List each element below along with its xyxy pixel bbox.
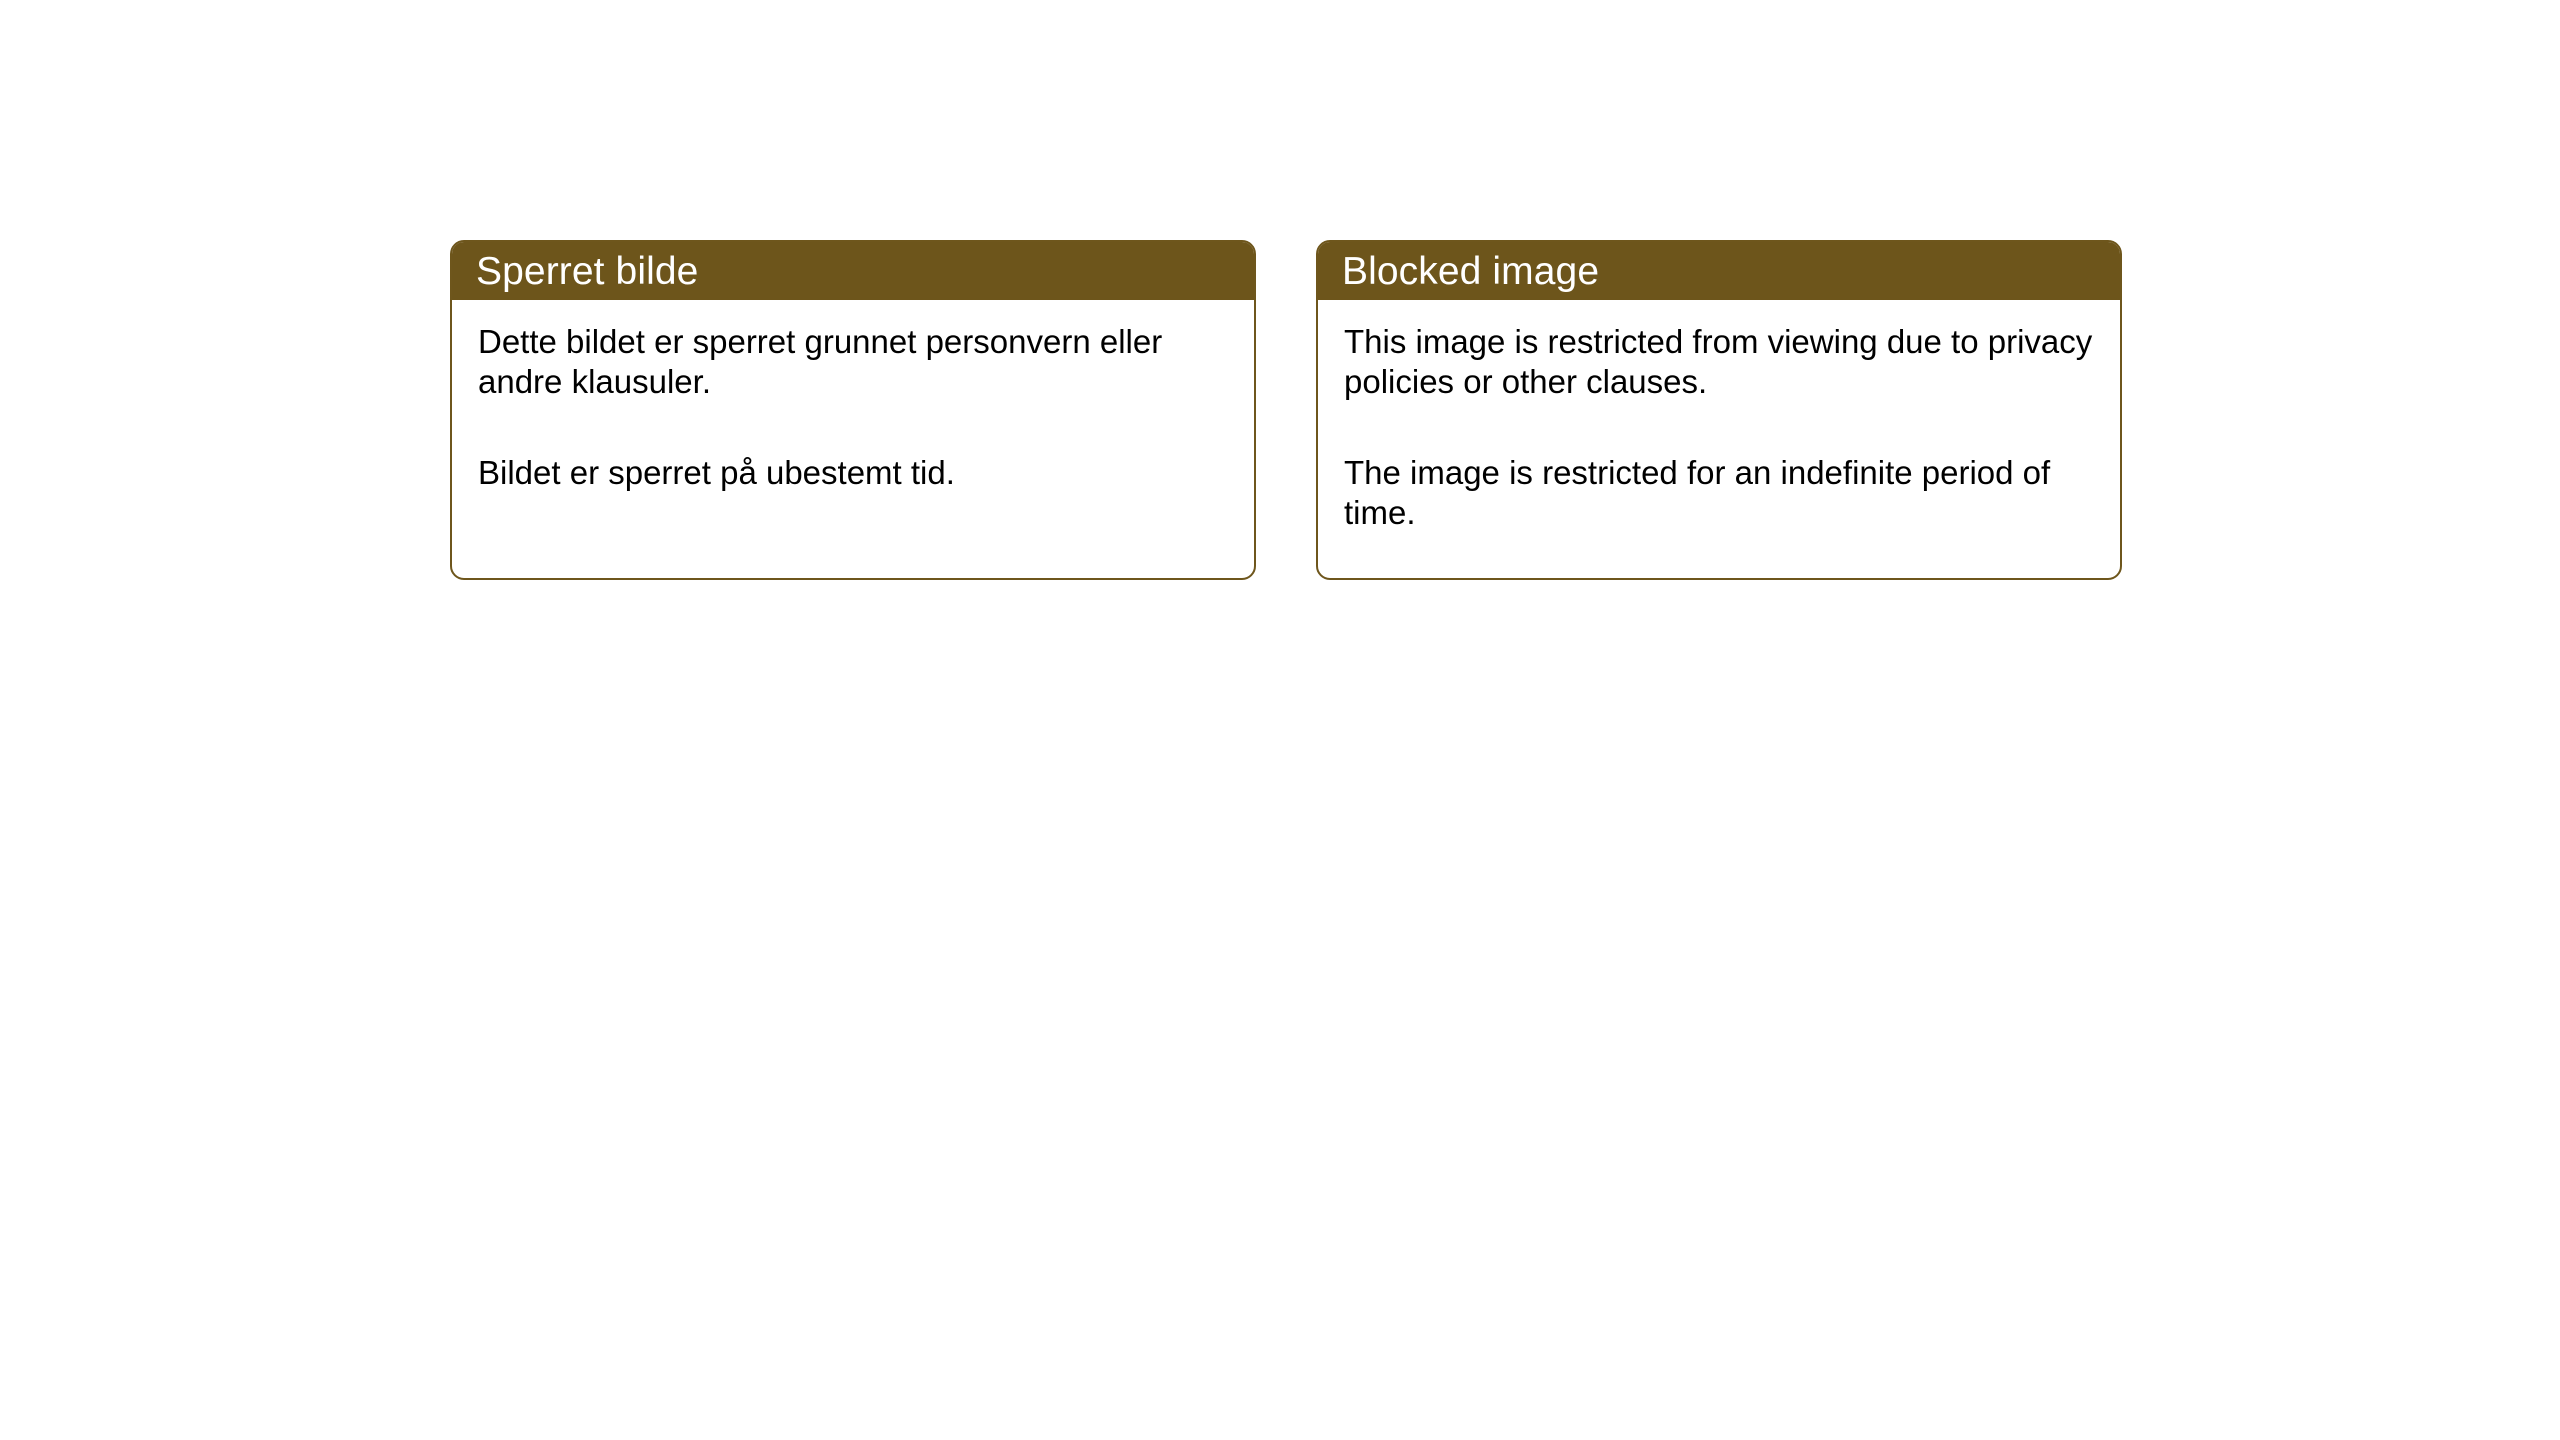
card-body-en: This image is restricted from viewing du…	[1318, 300, 2120, 557]
blocked-image-notice-card-en: Blocked image This image is restricted f…	[1316, 240, 2122, 580]
card-body-no: Dette bildet er sperret grunnet personve…	[452, 300, 1254, 517]
card-paragraph-reason-no: Dette bildet er sperret grunnet personve…	[478, 322, 1230, 403]
card-paragraph-reason-en: This image is restricted from viewing du…	[1344, 322, 2096, 403]
page-root: Sperret bilde Dette bildet er sperret gr…	[0, 0, 2560, 1440]
card-paragraph-duration-no: Bildet er sperret på ubestemt tid.	[478, 453, 1230, 493]
card-header-en: Blocked image	[1318, 242, 2120, 300]
card-paragraph-duration-en: The image is restricted for an indefinit…	[1344, 453, 2096, 534]
card-title-no: Sperret bilde	[476, 252, 698, 291]
card-title-en: Blocked image	[1342, 252, 1599, 291]
blocked-image-notice-card-no: Sperret bilde Dette bildet er sperret gr…	[450, 240, 1256, 580]
card-header-no: Sperret bilde	[452, 242, 1254, 300]
